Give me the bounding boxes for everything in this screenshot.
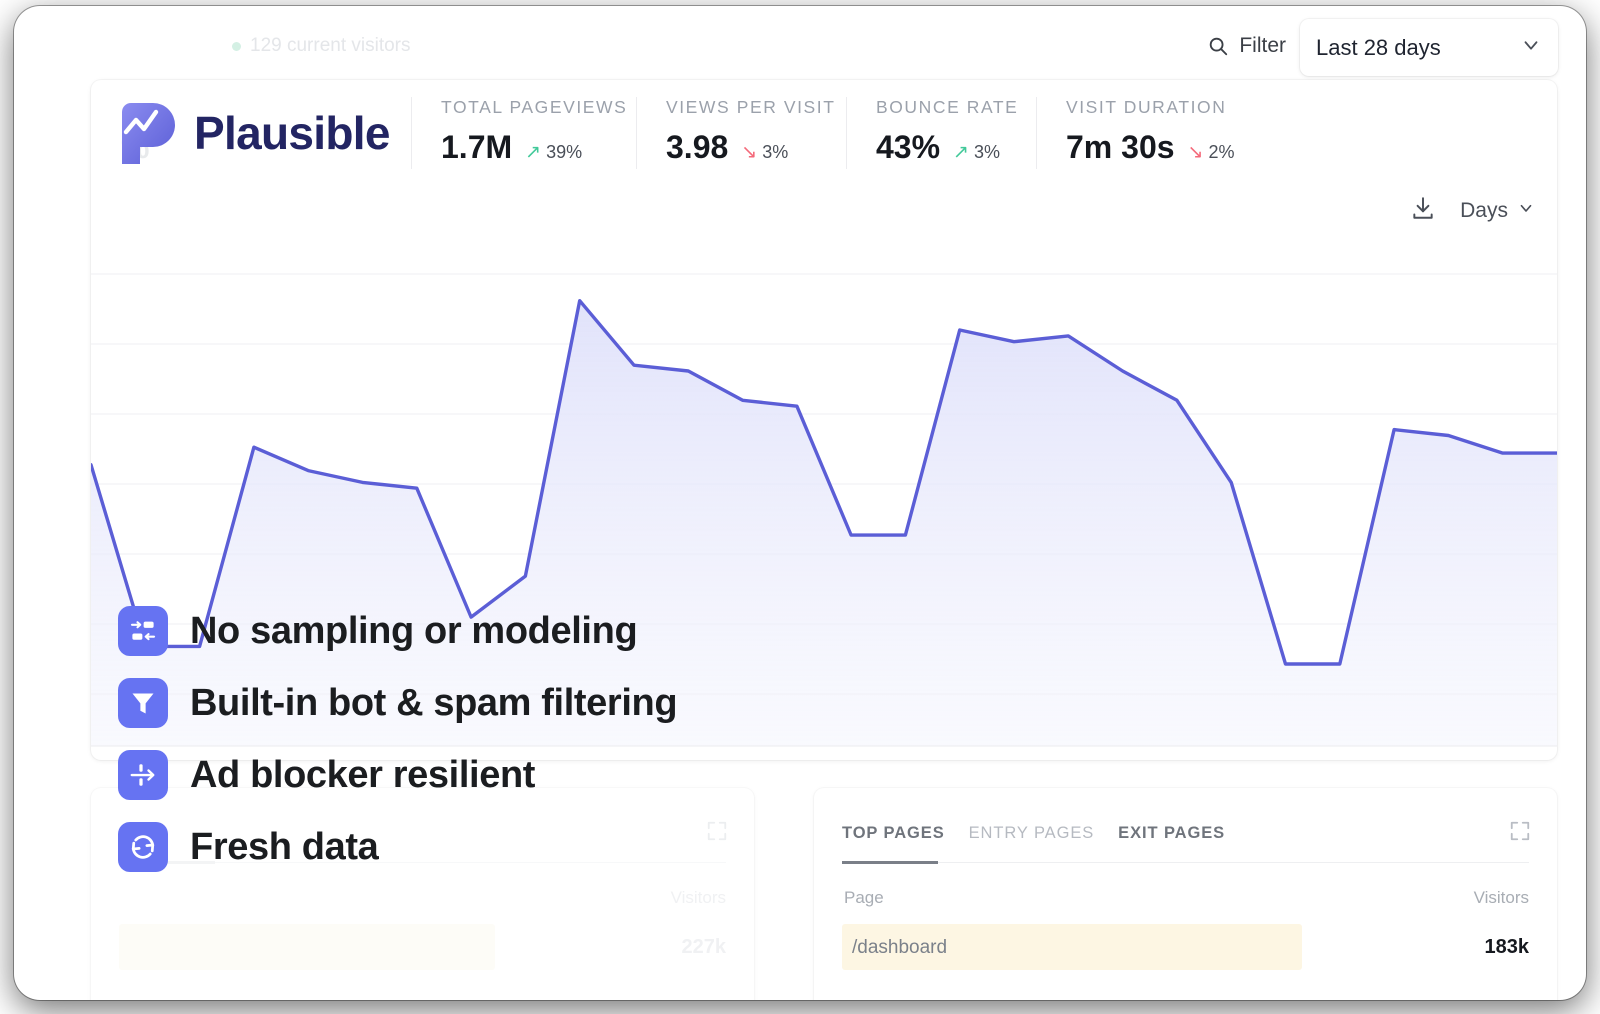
feature-item-bot-filtering: Built-in bot & spam filtering bbox=[118, 678, 677, 728]
metric-visit-duration[interactable]: VISIT DURATION 7m 30s ↘ 2% bbox=[1036, 97, 1286, 169]
expand-icon[interactable] bbox=[1509, 820, 1531, 847]
metric-value: 3.98 bbox=[666, 129, 728, 166]
panel-tab-list: TOP PAGES ENTRY PAGES EXIT PAGES bbox=[842, 824, 1225, 859]
chart-toolbar: Days bbox=[1410, 195, 1535, 226]
funnel-filter-icon bbox=[118, 678, 168, 728]
feature-list: No sampling or modeling Built-in bot & s… bbox=[118, 606, 677, 872]
plausible-logo: Plausible bbox=[120, 102, 390, 164]
download-icon[interactable] bbox=[1410, 195, 1436, 226]
date-range-picker[interactable]: Last 28 days bbox=[1300, 19, 1558, 76]
interval-label: Days bbox=[1460, 199, 1508, 223]
arrow-down-icon: ↘ bbox=[741, 143, 757, 162]
current-visitors-indicator[interactable]: 129 current visitors bbox=[232, 35, 411, 57]
feature-label: No sampling or modeling bbox=[190, 610, 637, 653]
feature-item-no-sampling: No sampling or modeling bbox=[118, 606, 677, 656]
column-header-page: Page bbox=[844, 888, 884, 908]
current-visitors-label: 129 current visitors bbox=[250, 35, 411, 57]
feature-label: Built-in bot & spam filtering bbox=[190, 682, 677, 725]
metric-change: ↘ 2% bbox=[1188, 142, 1235, 163]
feature-item-ad-blocker: Ad blocker resilient bbox=[118, 750, 677, 800]
chevron-down-icon bbox=[1520, 34, 1542, 61]
chevron-down-icon bbox=[1517, 199, 1535, 223]
filter-button[interactable]: Filter bbox=[1207, 34, 1286, 58]
metric-label: VISIT DURATION bbox=[1066, 97, 1256, 118]
row-progress-bar bbox=[119, 924, 495, 970]
arrow-up-icon: ↗ bbox=[525, 143, 541, 162]
metric-change: ↘ 3% bbox=[741, 142, 788, 163]
metric-change: ↗ 3% bbox=[953, 142, 1000, 163]
interval-select[interactable]: Days bbox=[1460, 199, 1535, 223]
data-transfer-icon bbox=[118, 606, 168, 656]
metric-value: 1.7M bbox=[441, 129, 512, 166]
table-row[interactable]: /dashboard 183k bbox=[842, 924, 1529, 970]
search-icon bbox=[1207, 35, 1229, 57]
column-header-visitors: Visitors bbox=[671, 888, 726, 908]
row-visitors-value: 227k bbox=[682, 936, 727, 959]
browser-window-card: 129 current visitors Filter Last 28 days bbox=[14, 6, 1586, 1000]
metric-change-value: 3% bbox=[762, 142, 788, 163]
arrow-down-icon: ↘ bbox=[1188, 143, 1204, 162]
column-header-visitors: Visitors bbox=[1474, 888, 1529, 908]
metric-value: 43% bbox=[876, 129, 940, 166]
feature-label: Fresh data bbox=[190, 826, 378, 869]
tab-entry-pages[interactable]: ENTRY PAGES bbox=[969, 824, 1095, 859]
filter-label: Filter bbox=[1239, 34, 1286, 58]
table-row[interactable]: 227k bbox=[119, 924, 726, 970]
refresh-icon bbox=[118, 822, 168, 872]
panel-divider bbox=[842, 862, 1529, 863]
metric-value: 7m 30s bbox=[1066, 129, 1175, 166]
metric-change: ↗ 39% bbox=[525, 142, 582, 163]
metric-label: TOTAL PAGEVIEWS bbox=[441, 97, 606, 118]
active-tab-underline bbox=[842, 861, 938, 864]
metric-change-value: 2% bbox=[1208, 142, 1234, 163]
metric-label: BOUNCE RATE bbox=[876, 97, 1006, 118]
metric-label: VIEWS PER VISIT bbox=[666, 97, 816, 118]
metric-change-value: 3% bbox=[974, 142, 1000, 163]
metric-views-per-visit[interactable]: VIEWS PER VISIT 3.98 ↘ 3% bbox=[636, 97, 846, 169]
tab-top-pages[interactable]: TOP PAGES bbox=[842, 824, 945, 859]
metric-change-value: 39% bbox=[546, 142, 582, 163]
row-page-label: /dashboard bbox=[852, 937, 947, 959]
date-range-label: Last 28 days bbox=[1316, 35, 1441, 61]
arrow-up-icon: ↗ bbox=[953, 143, 969, 162]
metric-bounce-rate[interactable]: BOUNCE RATE 43% ↗ 3% bbox=[846, 97, 1036, 169]
plausible-logo-icon bbox=[120, 102, 176, 164]
top-pages-panel[interactable]: TOP PAGES ENTRY PAGES EXIT PAGES Page Vi… bbox=[814, 788, 1557, 1000]
feature-item-fresh-data: Fresh data bbox=[118, 822, 677, 872]
plausible-wordmark: Plausible bbox=[194, 106, 390, 160]
expand-icon[interactable] bbox=[706, 820, 728, 847]
arrow-through-barrier-icon bbox=[118, 750, 168, 800]
feature-label: Ad blocker resilient bbox=[190, 754, 535, 797]
live-status-dot bbox=[232, 42, 241, 51]
row-visitors-value: 183k bbox=[1485, 936, 1530, 959]
metric-total-pageviews[interactable]: TOTAL PAGEVIEWS 1.7M ↗ 39% bbox=[411, 97, 636, 169]
tab-exit-pages[interactable]: EXIT PAGES bbox=[1118, 824, 1225, 859]
